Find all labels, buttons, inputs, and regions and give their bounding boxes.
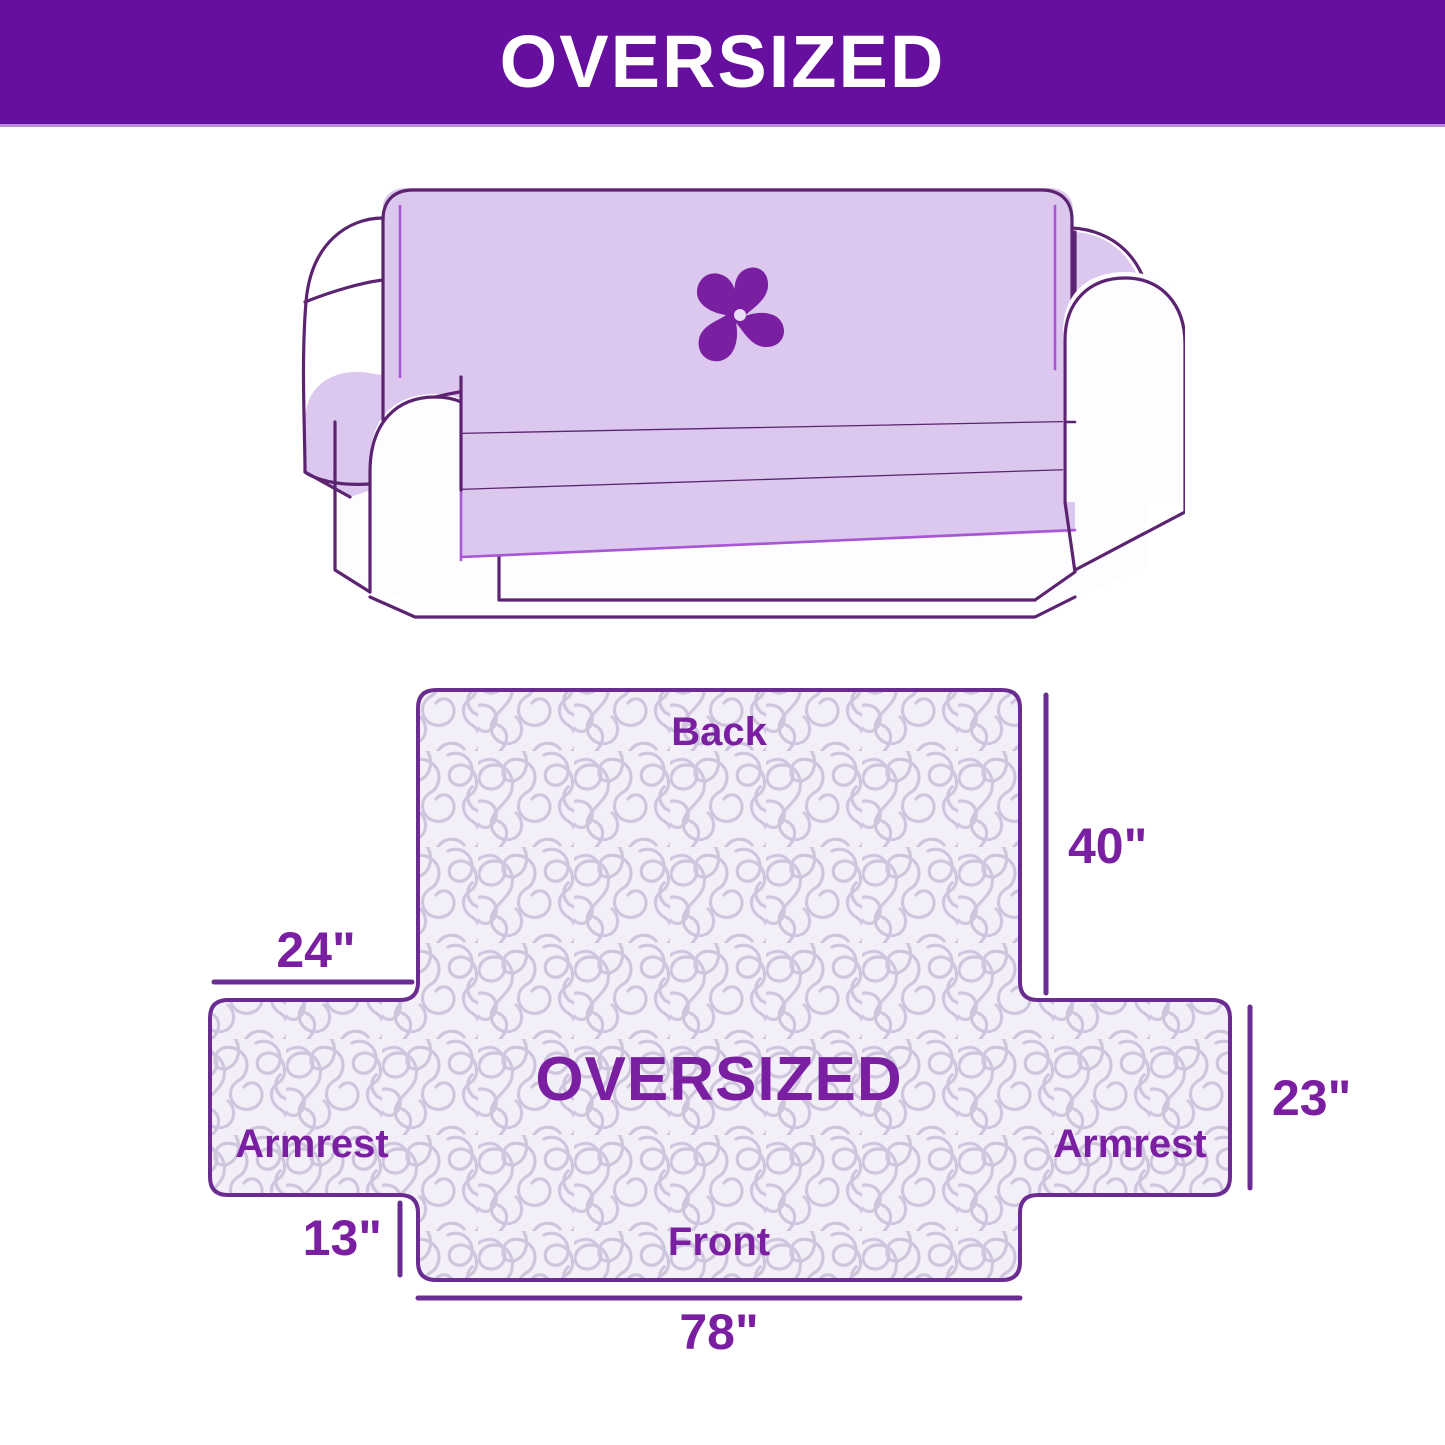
pattern-diagram: Back Armrest Armrest Front OVERSIZED 40"… [190,655,1350,1355]
armrest-panel-left-label: Armrest [235,1122,388,1166]
dimension-total-width: 78" [418,1298,1020,1355]
sofa-illustration: .ol { fill:none; stroke:#5B2370; stroke-… [275,172,1185,622]
dimension-armrest-width: 24" [214,922,412,982]
header-banner: OVERSIZED [0,0,1445,124]
center-size-label: OVERSIZED [535,1045,902,1114]
dimension-armrest-height: 23" [1250,1007,1350,1188]
dimension-front-drop: 13" [303,1203,400,1275]
cover-flat-shape [210,690,1230,1280]
dimension-armrest-width-value: 24" [276,922,355,978]
dimension-total-width-value: 78" [679,1304,758,1355]
page-title: OVERSIZED [500,25,946,99]
dimension-back-height: 40" [1046,695,1147,993]
back-panel-label: Back [671,710,767,754]
dimension-armrest-height-value: 23" [1272,1070,1350,1126]
dimension-front-drop-value: 13" [303,1210,382,1266]
dimension-back-height-value: 40" [1068,818,1147,874]
banner-underline [0,124,1445,127]
armrest-panel-right-label: Armrest [1053,1122,1206,1166]
front-panel-label: Front [668,1220,770,1264]
